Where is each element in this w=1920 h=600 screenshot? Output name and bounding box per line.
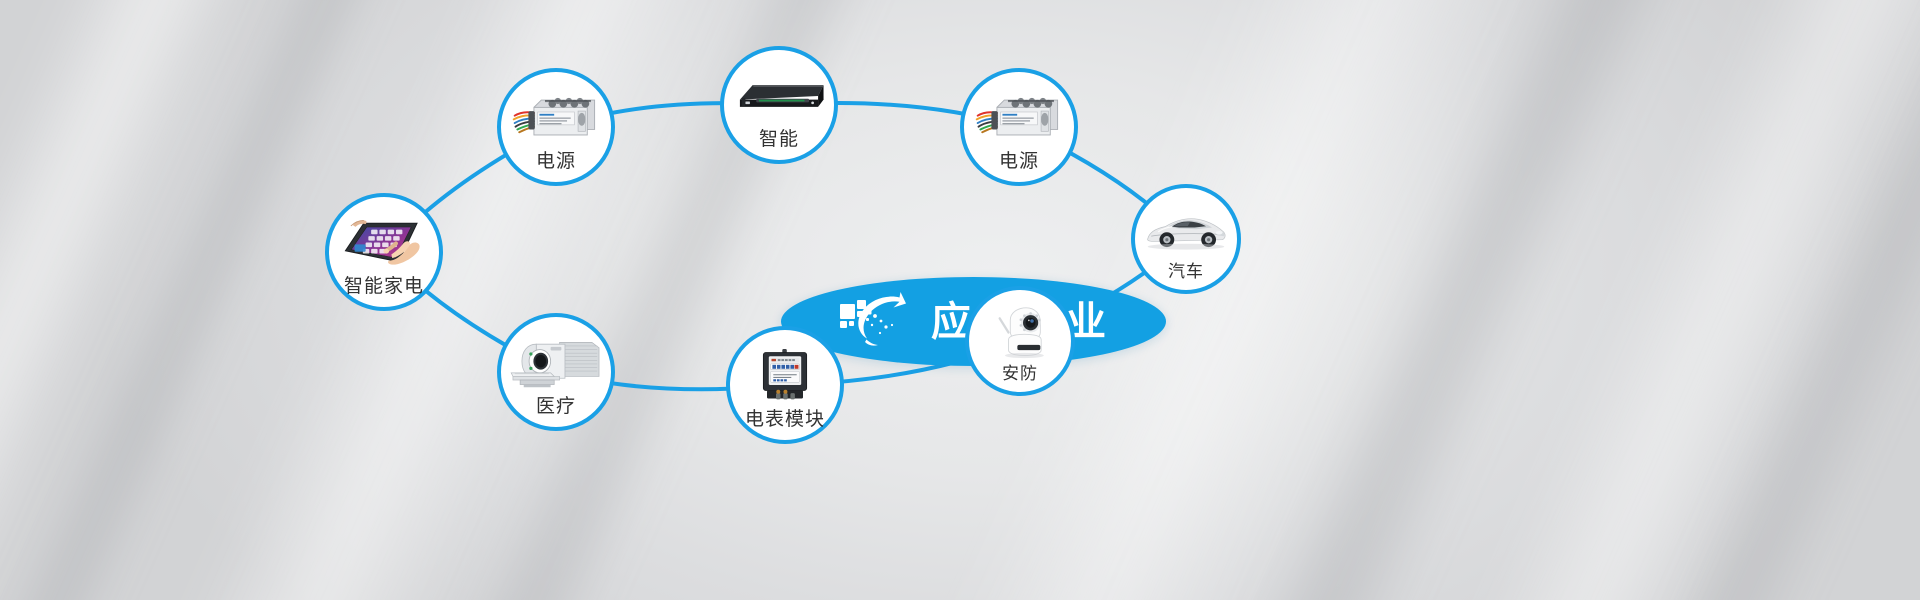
application-industries-banner: 应用行业 xyxy=(0,0,1920,600)
node-label: 汽车 xyxy=(1168,263,1204,280)
pc-power-supply-icon xyxy=(501,89,611,146)
tablet-touch-icon xyxy=(329,214,439,271)
node-meter-module[interactable]: 电表模块 xyxy=(726,326,844,444)
node-power-supply-right[interactable]: 电源 xyxy=(960,68,1078,186)
mri-scanner-icon xyxy=(501,334,611,391)
node-power-supply-left[interactable]: 电源 xyxy=(497,68,615,186)
node-label: 电源 xyxy=(536,152,576,171)
node-label: 电表模块 xyxy=(745,410,825,429)
node-label: 安防 xyxy=(1002,365,1038,382)
node-security[interactable]: 安防 xyxy=(965,286,1075,396)
rack-server-icon xyxy=(724,67,834,124)
node-automotive[interactable]: 汽车 xyxy=(1131,184,1241,294)
node-medical[interactable]: 医疗 xyxy=(497,313,615,431)
node-label: 智能 xyxy=(759,130,799,149)
node-label: 电源 xyxy=(999,152,1039,171)
pc-power-supply-icon xyxy=(964,89,1074,146)
sports-car-icon xyxy=(1135,204,1237,257)
ip-camera-icon xyxy=(969,306,1071,359)
node-intelligent[interactable]: 智能 xyxy=(720,46,838,164)
electric-meter-icon xyxy=(730,347,840,404)
orbit-pixel-swoosh-logo-icon xyxy=(836,292,910,354)
node-label: 智能家电 xyxy=(344,277,424,296)
node-smart-appliance[interactable]: 智能家电 xyxy=(325,193,443,311)
node-label: 医疗 xyxy=(536,397,576,416)
